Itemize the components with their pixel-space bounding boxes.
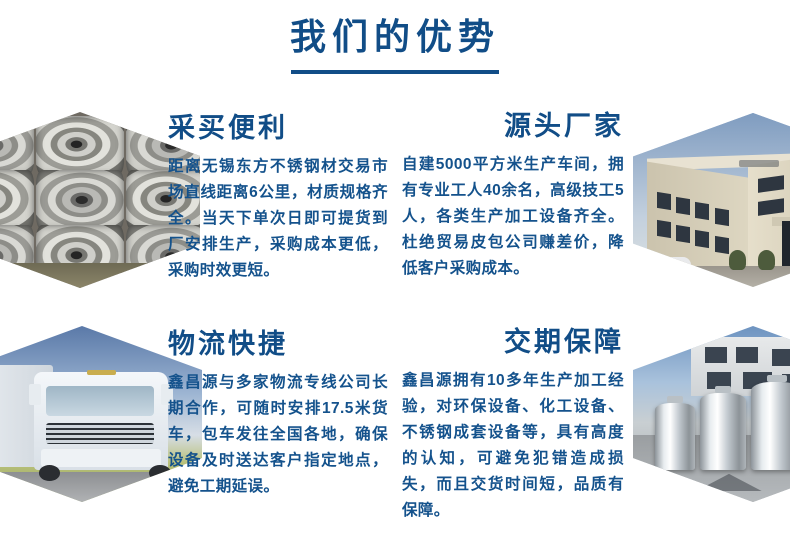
window	[772, 349, 790, 367]
steel-coil	[0, 116, 34, 176]
feature-card-source-factory: 源头厂家 自建5000平方米生产车间，拥有专业工人40余名，高级技工5人，各类生…	[402, 110, 624, 282]
window	[715, 235, 729, 253]
window	[736, 347, 758, 363]
window	[705, 347, 727, 363]
front-grille	[46, 423, 154, 444]
building-sign	[739, 160, 780, 167]
factory-building-photo	[633, 113, 790, 287]
feature-card-delivery-guarantee: 交期保障 鑫昌源拥有10多年生产加工经验，对环保设备、化工设备、不锈钢成套设备等…	[402, 326, 624, 524]
feature-body: 距离无锡东方不锈钢材交易市场直线距离6公里，材质规格齐全。当天下单次日即可提货到…	[168, 154, 388, 284]
side-mirror	[29, 384, 41, 405]
front-bumper	[41, 449, 161, 467]
feature-body: 鑫昌源拥有10多年生产加工经验，对环保设备、化工设备、不锈钢成套设备等，具有高度…	[402, 368, 624, 524]
tanks-illustration	[633, 326, 790, 502]
wheel	[39, 465, 61, 481]
feature-heading: 采买便利	[168, 112, 388, 144]
steel-coil	[0, 170, 34, 230]
window	[676, 225, 690, 243]
page-title: 我们的优势	[0, 14, 790, 60]
stainless-tank	[655, 403, 696, 470]
feature-heading: 交期保障	[402, 326, 624, 358]
stainless-tank	[700, 393, 746, 470]
window	[695, 230, 709, 248]
tank-nozzle	[667, 396, 684, 403]
feature-body: 鑫昌源与多家物流专线公司长期合作，可随时安排17.5米货车，包车发往全国各地，确…	[168, 370, 388, 500]
feature-card-purchase-convenience: 采买便利 距离无锡东方不锈钢材交易市场直线距离6公里，材质规格齐全。当天下单次日…	[168, 112, 388, 284]
window	[715, 208, 729, 226]
window	[676, 197, 690, 215]
roof-marker-lights	[87, 370, 116, 375]
window	[657, 220, 671, 238]
windshield	[46, 386, 154, 416]
feature-card-fast-logistics: 物流快捷 鑫昌源与多家物流专线公司长期合作，可随时安排17.5米货车，包车发往全…	[168, 328, 388, 500]
tank-nozzle	[715, 386, 732, 393]
parked-car	[652, 257, 690, 273]
steel-coil	[36, 116, 124, 176]
title-underline-divider	[291, 70, 499, 74]
window	[695, 202, 709, 220]
feature-heading: 物流快捷	[168, 328, 388, 360]
factory-illustration	[633, 113, 790, 287]
page-header: 我们的优势	[0, 14, 790, 74]
steel-coil	[36, 170, 124, 230]
steel-coil	[0, 225, 34, 288]
feature-body: 自建5000平方米生产车间，拥有专业工人40余名，高级技工5人，各类生产加工设备…	[402, 152, 624, 282]
shrub	[729, 250, 746, 269]
window	[657, 192, 671, 210]
shrub	[758, 250, 775, 269]
tank-nozzle	[767, 375, 786, 382]
feature-heading: 源头厂家	[402, 110, 624, 142]
stainless-tank	[751, 382, 790, 470]
entrance-door	[782, 221, 790, 268]
stainless-tanks-photo	[633, 326, 790, 502]
